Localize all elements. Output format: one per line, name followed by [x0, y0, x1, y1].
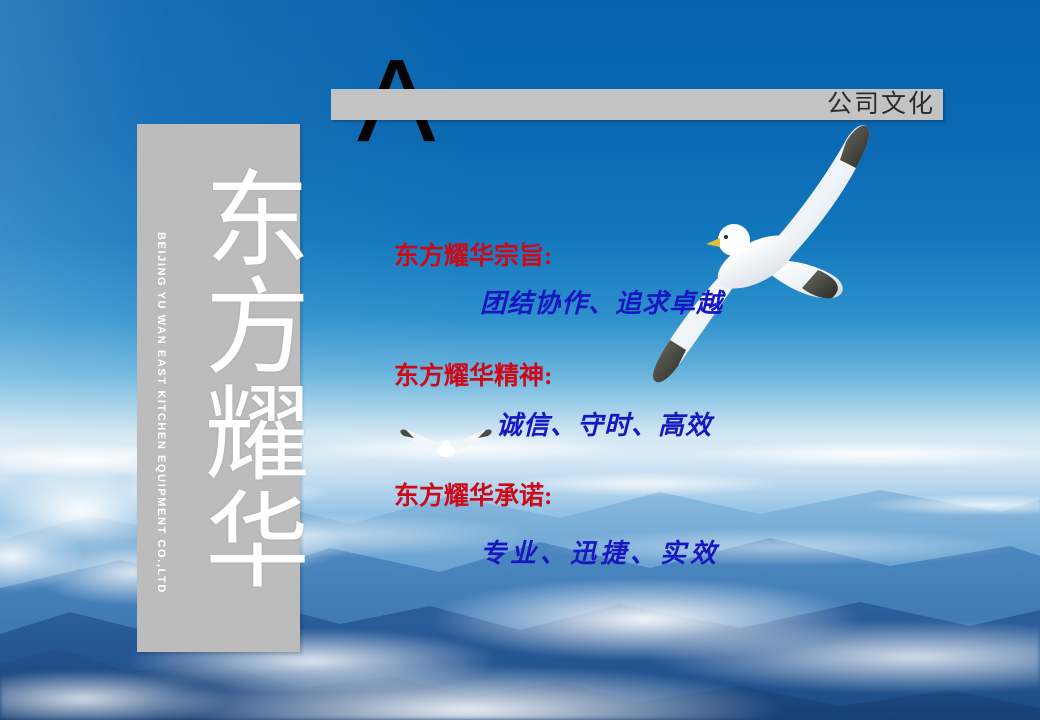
header-bar: 公司文化: [331, 89, 943, 120]
company-english-name: BEIJING YU WAN EAST KITCHEN EQUIPMENT CO…: [147, 232, 171, 582]
company-chinese-name: 东 方 耀 华: [205, 168, 325, 596]
company-english-name-text: BEIJING YU WAN EAST KITCHEN EQUIPMENT CO…: [155, 232, 167, 594]
slide-canvas: A 公司文化 BEIJING YU WAN EAST KITCHEN EQUIP…: [0, 0, 1040, 720]
page-title: 公司文化: [827, 92, 943, 117]
seagull-icon: [650, 120, 960, 420]
seagull-small-icon: [396, 420, 496, 470]
